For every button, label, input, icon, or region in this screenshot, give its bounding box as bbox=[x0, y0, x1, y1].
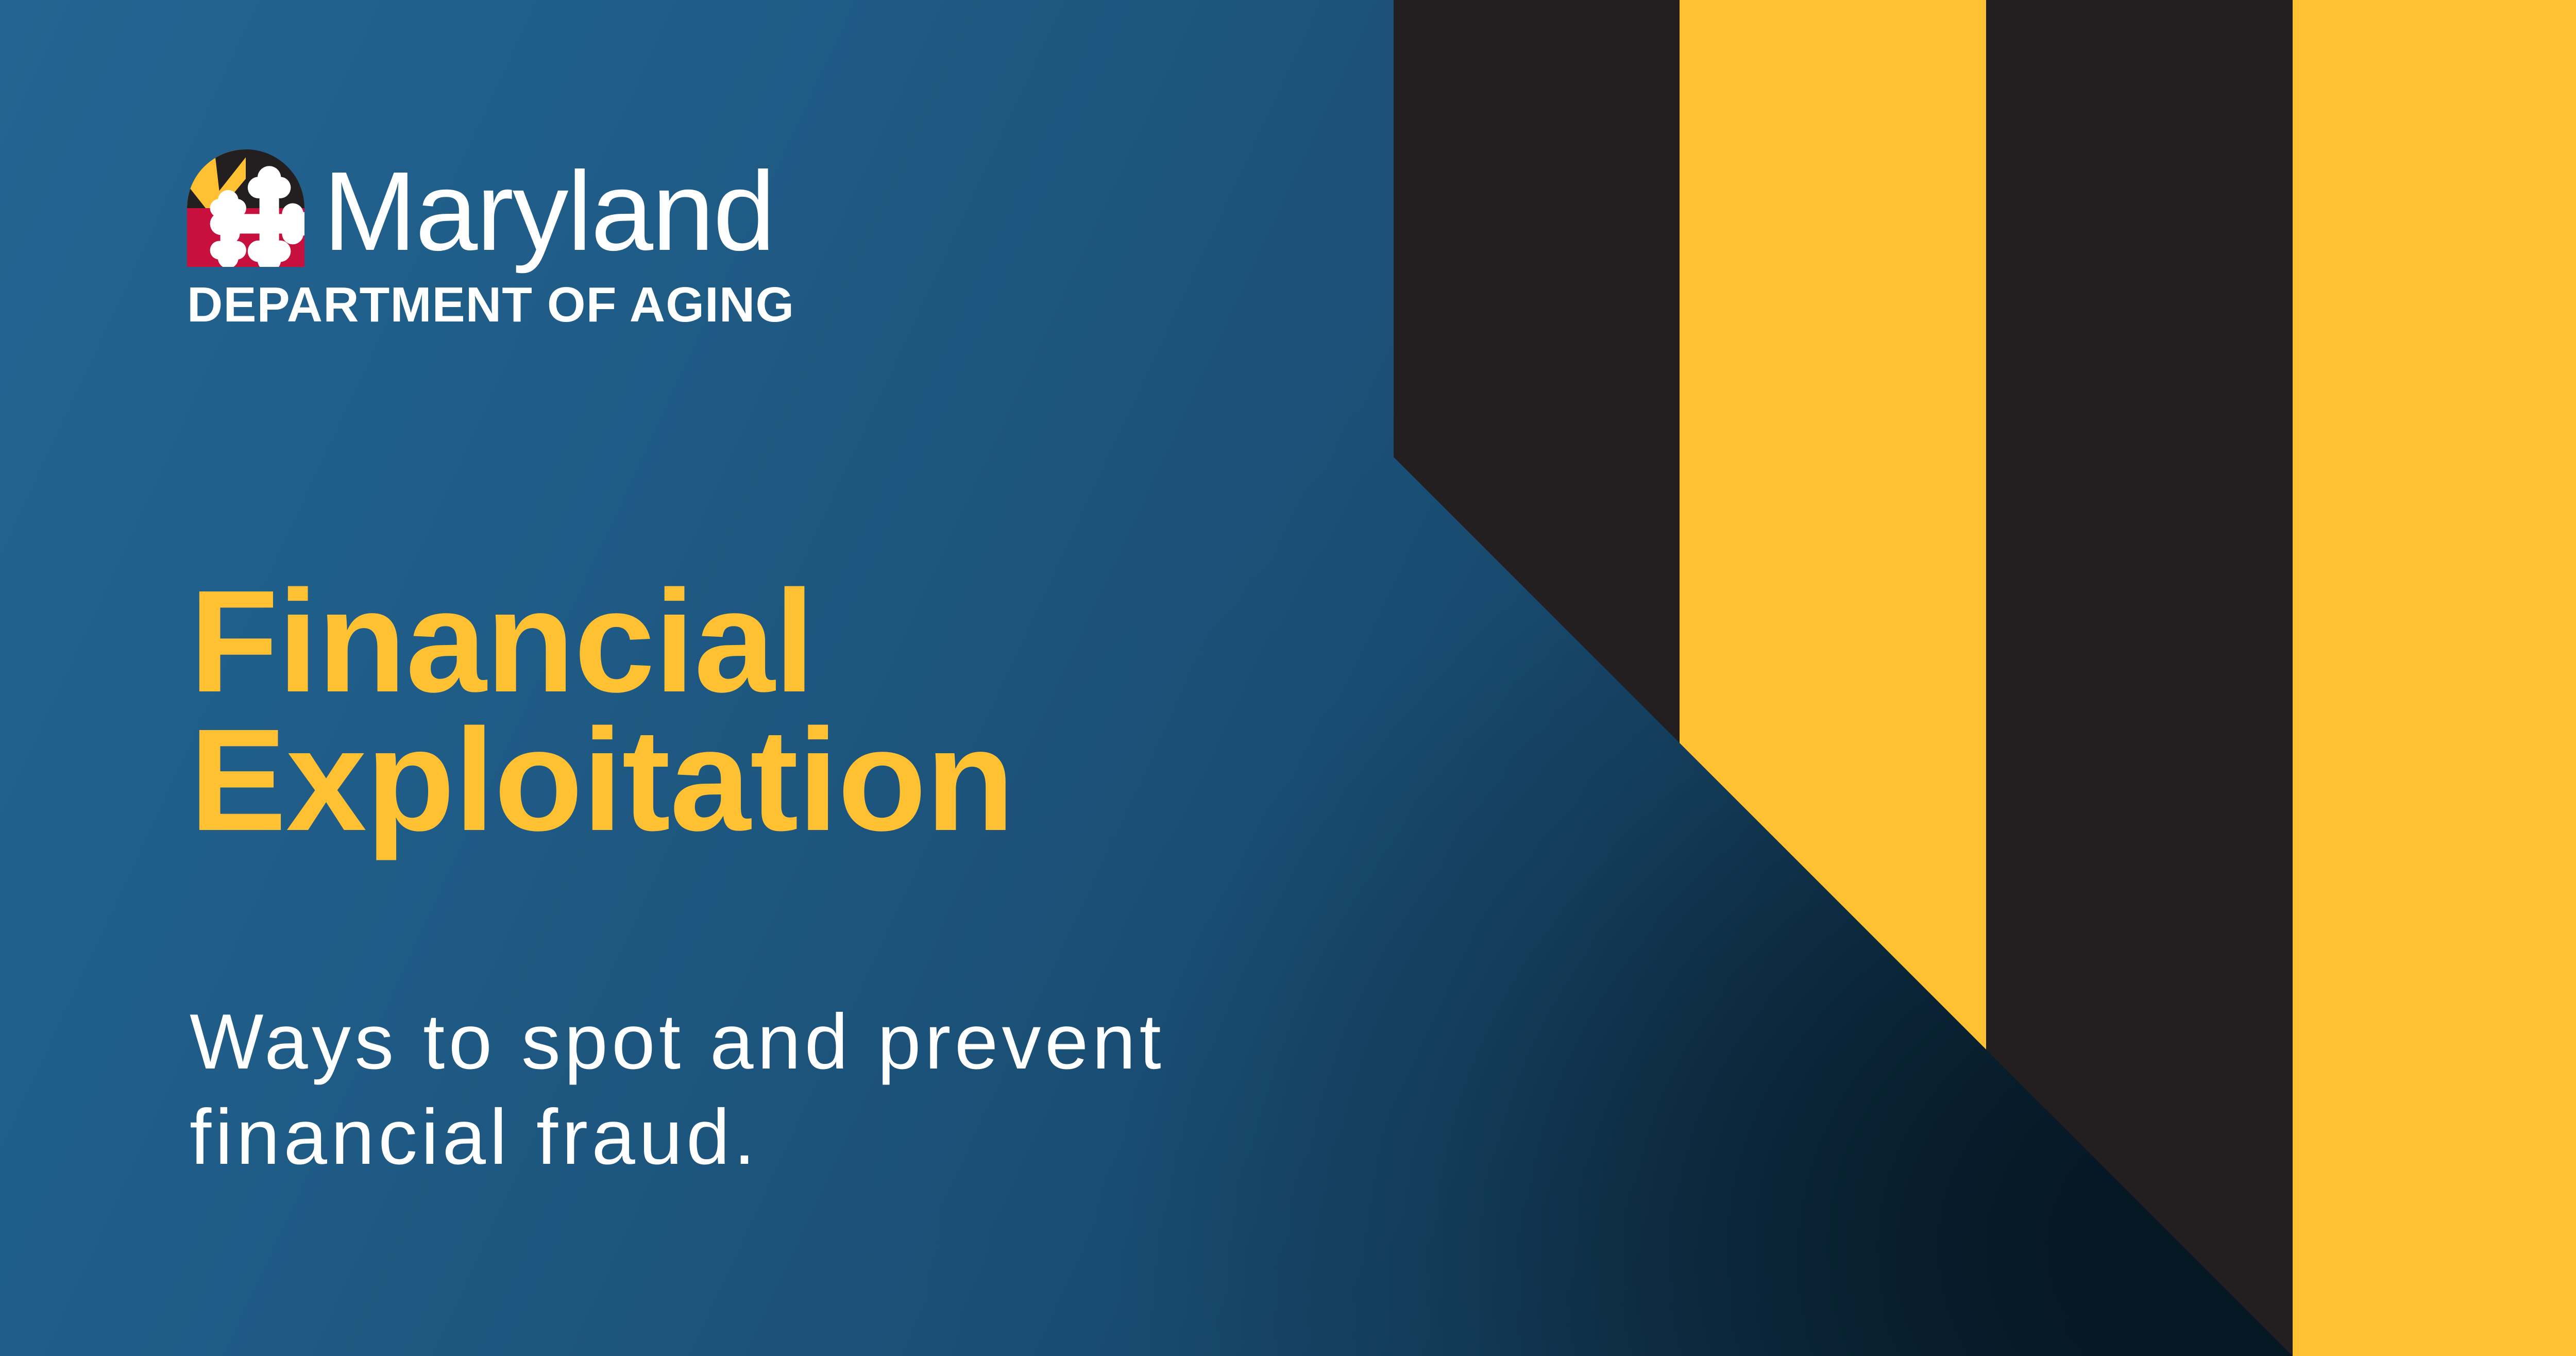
stripe-yellow-1 bbox=[1680, 0, 1986, 1356]
headline-line-2: Exploitation bbox=[190, 710, 1014, 849]
headline-line-1: Financial bbox=[190, 572, 1014, 710]
page-title: Financial Exploitation bbox=[190, 572, 1014, 850]
stripe-black-2 bbox=[1986, 0, 2293, 1356]
flag-stripe-pattern bbox=[1394, 0, 2576, 1356]
page-subtitle: Ways to spot and prevent financial fraud… bbox=[190, 994, 1165, 1185]
department-name: DEPARTMENT OF AGING bbox=[187, 280, 1217, 330]
maryland-flag-shield-icon bbox=[187, 149, 304, 267]
stripe-black-1 bbox=[1394, 0, 1680, 1356]
subheadline-line-2: financial fraud. bbox=[190, 1090, 1165, 1185]
subheadline-line-1: Ways to spot and prevent bbox=[190, 994, 1165, 1090]
banner-canvas: Maryland DEPARTMENT OF AGING Financial E… bbox=[0, 0, 2576, 1356]
brand-lockup: Maryland DEPARTMENT OF AGING bbox=[187, 149, 1217, 330]
brand-wordmark: Maryland bbox=[323, 163, 774, 260]
